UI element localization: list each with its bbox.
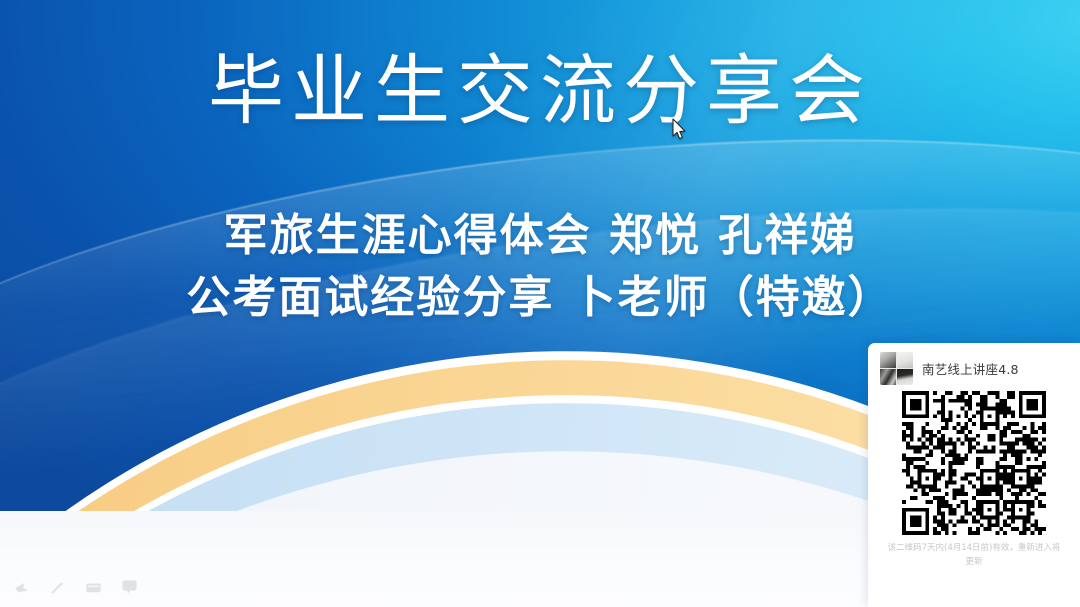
presentation-slide: 毕业生交流分享会 军旅生涯心得体会 郑悦 孔祥娣 公考面试经验分享 卜老师（特邀… <box>0 0 1080 607</box>
group-chat-name: 南艺线上讲座4.8 <box>922 359 1019 378</box>
group-avatar <box>880 352 913 385</box>
slide-grid-icon[interactable] <box>84 578 103 597</box>
wechat-qr-card: 南艺线上讲座4.8 该二维码7天内(4月14日前)有效，重新进入将更新 <box>868 343 1080 607</box>
subtitle-line-2: 公考面试经验分享 卜老师（特邀） <box>0 267 1080 329</box>
subtitle-block: 军旅生涯心得体会 郑悦 孔祥娣 公考面试经验分享 卜老师（特邀） <box>0 205 1080 330</box>
title-block: 毕业生交流分享会 <box>0 48 1080 133</box>
subtitle-line-1: 军旅生涯心得体会 郑悦 孔祥娣 <box>0 205 1080 267</box>
avatar-tile-3 <box>880 369 896 385</box>
presenter-toolbar[interactable] <box>12 578 139 597</box>
avatar-tile-4 <box>897 369 913 385</box>
avatar-tile-1 <box>880 352 896 368</box>
annotation-icon[interactable] <box>120 578 139 597</box>
qr-card-header: 南艺线上讲座4.8 <box>868 343 1080 389</box>
qr-code-icon[interactable] <box>902 391 1046 535</box>
laser-pointer-icon[interactable] <box>12 578 31 597</box>
page-title: 毕业生交流分享会 <box>0 48 1080 133</box>
pen-icon[interactable] <box>48 578 67 597</box>
qr-code-container[interactable] <box>868 391 1080 535</box>
avatar-tile-2 <box>897 352 913 368</box>
qr-expiry-note: 该二维码7天内(4月14日前)有效，重新进入将更新 <box>884 542 1064 569</box>
